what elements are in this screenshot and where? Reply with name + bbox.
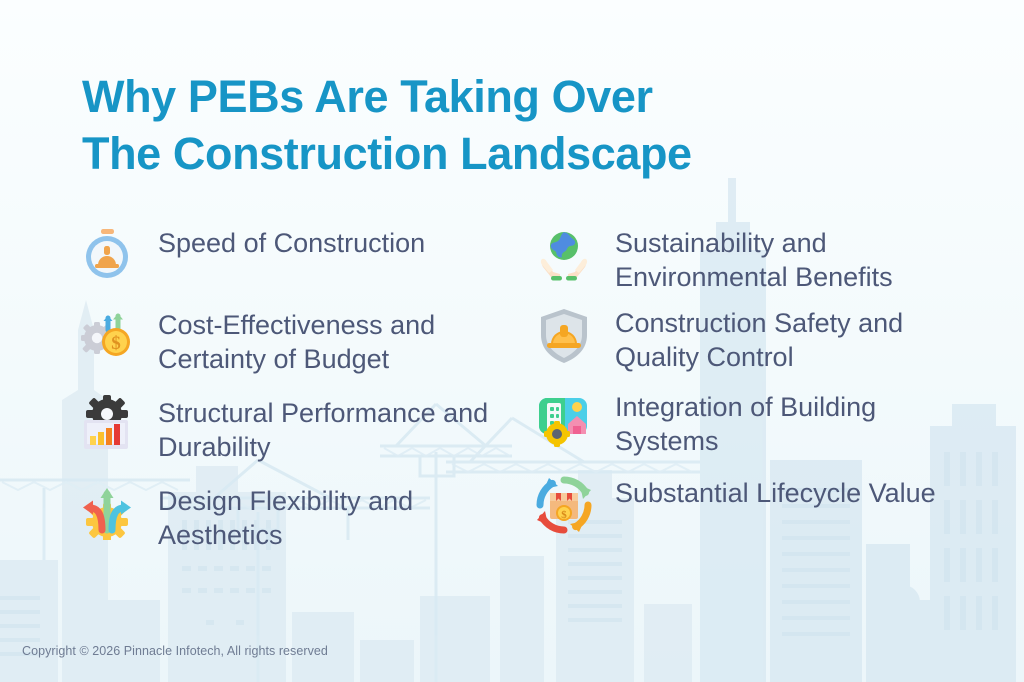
gear-arrows-icon <box>78 482 136 540</box>
feature-column-left: Speed of Construction <box>78 222 533 552</box>
svg-text:$: $ <box>561 509 567 521</box>
feature-label: Structural Performance and Durability <box>136 392 533 464</box>
feature-item-design-flexibility[interactable]: Design Flexibility and Aesthetics <box>78 480 533 552</box>
features-columns: Speed of Construction <box>0 222 1024 552</box>
feature-item-lifecycle-value[interactable]: $ Substantial Lifecycle Value <box>535 472 975 534</box>
title-line-2: The Construction Landscape <box>82 125 692 182</box>
feature-column-right: Sustainability and Environmental Benefit… <box>535 222 975 552</box>
infographic-canvas: Why PEBs Are Taking Over The Constructio… <box>0 0 1024 682</box>
gear-coin-growth-icon: $ <box>78 306 136 364</box>
feature-label: Substantial Lifecycle Value <box>593 472 936 510</box>
feature-label: Construction Safety and Quality Control <box>593 302 975 374</box>
feature-label: Sustainability and Environmental Benefit… <box>593 222 975 294</box>
feature-label: Cost-Effectiveness and Certainty of Budg… <box>136 304 533 376</box>
globe-in-hands-icon <box>535 226 593 284</box>
svg-text:$: $ <box>111 333 121 354</box>
buildings-gear-icon <box>535 390 593 448</box>
page-title: Why PEBs Are Taking Over The Constructio… <box>82 68 692 182</box>
feature-item-speed-of-construction[interactable]: Speed of Construction <box>78 222 533 282</box>
shield-hardhat-icon <box>535 306 593 364</box>
feature-label: Integration of Building Systems <box>593 386 975 458</box>
feature-item-sustainability[interactable]: Sustainability and Environmental Benefit… <box>535 222 975 294</box>
title-line-1: Why PEBs Are Taking Over <box>82 68 692 125</box>
gear-bar-chart-icon <box>78 394 136 452</box>
feature-label: Design Flexibility and Aesthetics <box>136 480 533 552</box>
copyright-footer: Copyright © 2026 Pinnacle Infotech, All … <box>22 644 328 658</box>
feature-item-structural-performance[interactable]: Structural Performance and Durability <box>78 392 533 464</box>
stopwatch-icon <box>78 224 136 282</box>
feature-label: Speed of Construction <box>136 222 425 260</box>
feature-item-integration-building-systems[interactable]: Integration of Building Systems <box>535 386 975 458</box>
feature-item-construction-safety[interactable]: Construction Safety and Quality Control <box>535 302 975 374</box>
lifecycle-value-icon: $ <box>535 476 593 534</box>
feature-item-cost-effectiveness[interactable]: $ Cost-Effectiveness and Certainty of Bu… <box>78 304 533 376</box>
